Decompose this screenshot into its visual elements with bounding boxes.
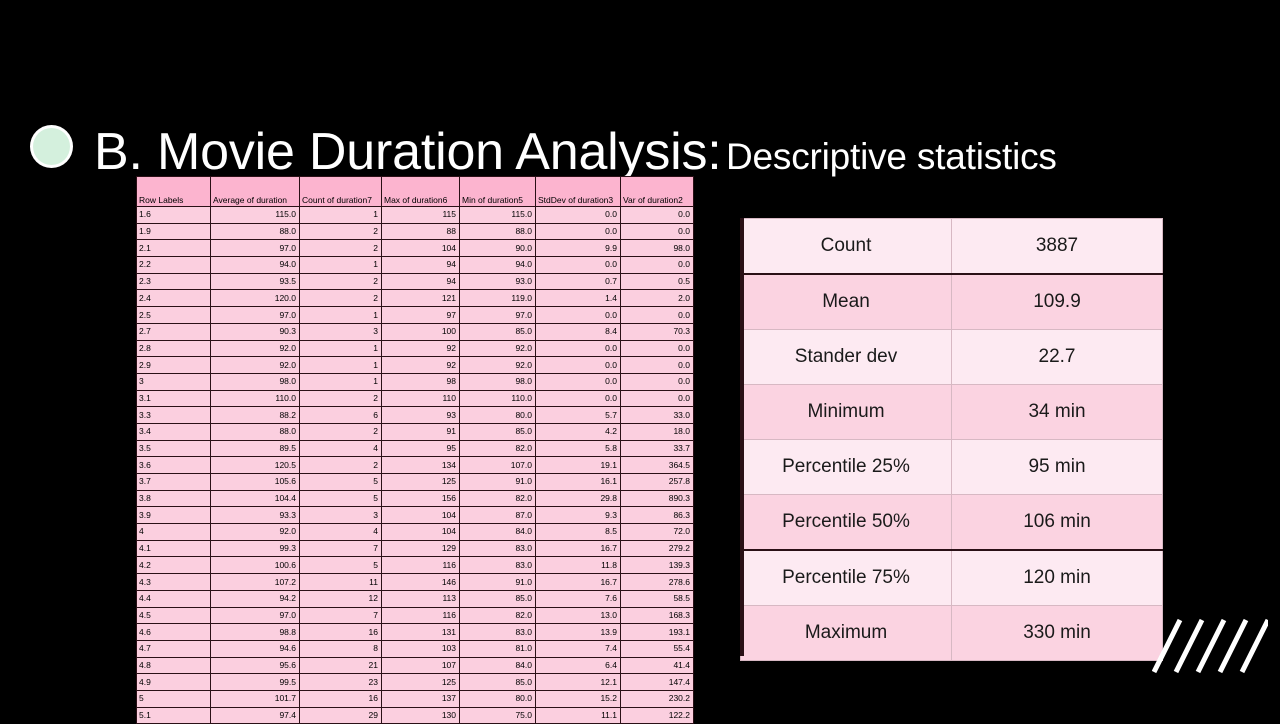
pivot-cell: 0.0 xyxy=(621,373,694,390)
pivot-row-label: 4.2 xyxy=(137,557,211,574)
pivot-cell: 85.0 xyxy=(460,590,536,607)
pivot-cell: 257.8 xyxy=(621,474,694,491)
pivot-cell: 0.0 xyxy=(621,207,694,224)
pivot-cell: 0.0 xyxy=(621,390,694,407)
table-row: 3.1110.02110110.00.00.0 xyxy=(137,390,694,407)
slide-title-row: B. Movie Duration Analysis: Descriptive … xyxy=(0,62,1280,142)
pivot-cell: 75.0 xyxy=(460,707,536,724)
pivot-header-row: Row LabelsAverage of durationCount of du… xyxy=(137,177,694,207)
pivot-cell: 125 xyxy=(382,474,460,491)
pivot-cell: 92.0 xyxy=(211,357,300,374)
pivot-cell: 94.2 xyxy=(211,590,300,607)
pivot-cell: 88 xyxy=(382,223,460,240)
pivot-cell: 0.0 xyxy=(536,223,621,240)
summary-statistics-table: Count3887Mean109.9Stander dev22.7Minimum… xyxy=(740,218,1163,661)
summary-stat-value: 109.9 xyxy=(952,274,1163,330)
pivot-cell: 115.0 xyxy=(460,207,536,224)
pivot-cell: 85.0 xyxy=(460,423,536,440)
pivot-cell: 5 xyxy=(300,474,382,491)
summary-row: Mean109.9 xyxy=(741,274,1163,330)
pivot-cell: 5.8 xyxy=(536,440,621,457)
pivot-cell: 104 xyxy=(382,507,460,524)
pivot-cell: 8.4 xyxy=(536,323,621,340)
table-row: 398.019898.00.00.0 xyxy=(137,373,694,390)
pivot-column-header[interactable]: StdDev of duration3 xyxy=(536,177,621,207)
pivot-cell: 2.0 xyxy=(621,290,694,307)
pivot-cell: 116 xyxy=(382,557,460,574)
pivot-row-label: 4.6 xyxy=(137,624,211,641)
pivot-cell: 12 xyxy=(300,590,382,607)
summary-stat-value: 106 min xyxy=(952,495,1163,551)
pivot-row-label: 5.1 xyxy=(137,707,211,724)
pivot-cell: 0.0 xyxy=(536,357,621,374)
pivot-column-header[interactable]: Var of duration2 xyxy=(621,177,694,207)
pivot-cell: 23 xyxy=(300,674,382,691)
pivot-cell: 193.1 xyxy=(621,624,694,641)
summary-row: Percentile 50%106 min xyxy=(741,495,1163,551)
pivot-cell: 119.0 xyxy=(460,290,536,307)
pivot-cell: 91 xyxy=(382,423,460,440)
pivot-cell: 131 xyxy=(382,624,460,641)
pivot-cell: 95.6 xyxy=(211,657,300,674)
pivot-cell: 364.5 xyxy=(621,457,694,474)
pivot-cell: 104 xyxy=(382,524,460,541)
pivot-cell: 2 xyxy=(300,390,382,407)
table-row: 2.393.529493.00.70.5 xyxy=(137,273,694,290)
pivot-row-label: 2.4 xyxy=(137,290,211,307)
pivot-cell: 12.1 xyxy=(536,674,621,691)
pivot-cell: 4.2 xyxy=(536,423,621,440)
pivot-row-label: 4.7 xyxy=(137,640,211,657)
pivot-row-label: 4.8 xyxy=(137,657,211,674)
pivot-row-label: 3.1 xyxy=(137,390,211,407)
pivot-cell: 94 xyxy=(382,273,460,290)
table-row: 4.2100.6511683.011.8139.3 xyxy=(137,557,694,574)
pivot-cell: 94.0 xyxy=(460,257,536,274)
summary-stat-value: 330 min xyxy=(952,606,1163,661)
pivot-cell: 116 xyxy=(382,607,460,624)
pivot-cell: 58.5 xyxy=(621,590,694,607)
pivot-row-label: 4.5 xyxy=(137,607,211,624)
pivot-row-label: 3.7 xyxy=(137,474,211,491)
pivot-row-label: 3.6 xyxy=(137,457,211,474)
pivot-cell: 97.4 xyxy=(211,707,300,724)
summary-stat-value: 120 min xyxy=(952,550,1163,606)
summary-stat-label: Percentile 50% xyxy=(741,495,952,551)
table-row: 2.294.019494.00.00.0 xyxy=(137,257,694,274)
summary-stat-value: 3887 xyxy=(952,219,1163,275)
summary-stat-label: Count xyxy=(741,219,952,275)
pivot-cell: 130 xyxy=(382,707,460,724)
pivot-cell: 88.0 xyxy=(211,223,300,240)
pivot-cell: 1 xyxy=(300,373,382,390)
table-row: 4.3107.21114691.016.7278.6 xyxy=(137,574,694,591)
pivot-cell: 115 xyxy=(382,207,460,224)
pivot-cell: 0.5 xyxy=(621,273,694,290)
pivot-row-label: 2.8 xyxy=(137,340,211,357)
pivot-cell: 88.0 xyxy=(211,423,300,440)
pivot-cell: 91.0 xyxy=(460,574,536,591)
pivot-cell: 16.1 xyxy=(536,474,621,491)
pivot-cell: 129 xyxy=(382,540,460,557)
pivot-cell: 33.7 xyxy=(621,440,694,457)
pivot-cell: 278.6 xyxy=(621,574,694,591)
pivot-cell: 2 xyxy=(300,240,382,257)
pivot-cell: 88.0 xyxy=(460,223,536,240)
pivot-cell: 2 xyxy=(300,273,382,290)
pivot-row-label: 4.3 xyxy=(137,574,211,591)
pivot-cell: 0.0 xyxy=(621,223,694,240)
pivot-cell: 72.0 xyxy=(621,524,694,541)
table-row: 4.895.62110784.06.441.4 xyxy=(137,657,694,674)
table-row: 3.7105.6512591.016.1257.8 xyxy=(137,474,694,491)
pivot-cell: 2 xyxy=(300,290,382,307)
table-row: 3.488.029185.04.218.0 xyxy=(137,423,694,440)
pivot-cell: 15.2 xyxy=(536,690,621,707)
pivot-cell: 88.2 xyxy=(211,407,300,424)
pivot-cell: 0.0 xyxy=(621,340,694,357)
pivot-cell: 8 xyxy=(300,640,382,657)
pivot-cell: 29 xyxy=(300,707,382,724)
summary-row: Count3887 xyxy=(741,219,1163,275)
bullet-circle-icon xyxy=(33,128,70,165)
pivot-cell: 0.0 xyxy=(536,307,621,324)
table-row: 2.197.0210490.09.998.0 xyxy=(137,240,694,257)
pivot-cell: 2 xyxy=(300,423,382,440)
pivot-cell: 93.0 xyxy=(460,273,536,290)
pivot-cell: 82.0 xyxy=(460,490,536,507)
pivot-cell: 9.9 xyxy=(536,240,621,257)
pivot-cell: 81.0 xyxy=(460,640,536,657)
page-title-main: B. Movie Duration Analysis: xyxy=(94,123,722,181)
pivot-cell: 147.4 xyxy=(621,674,694,691)
pivot-cell: 92.0 xyxy=(460,357,536,374)
table-row: 3.993.3310487.09.386.3 xyxy=(137,507,694,524)
pivot-row-label: 3.9 xyxy=(137,507,211,524)
table-row: 3.589.549582.05.833.7 xyxy=(137,440,694,457)
pivot-row-label: 3.8 xyxy=(137,490,211,507)
pivot-cell: 2 xyxy=(300,223,382,240)
pivot-table-container: Row LabelsAverage of durationCount of du… xyxy=(136,176,693,724)
pivot-cell: 7 xyxy=(300,607,382,624)
table-row: 2.892.019292.00.00.0 xyxy=(137,340,694,357)
pivot-cell: 92 xyxy=(382,357,460,374)
pivot-cell: 0.0 xyxy=(621,307,694,324)
pivot-cell: 120.0 xyxy=(211,290,300,307)
summary-row: Maximum330 min xyxy=(741,606,1163,661)
pivot-row-label: 3.3 xyxy=(137,407,211,424)
pivot-column-header[interactable]: Count of duration7 xyxy=(300,177,382,207)
table-row: 5.197.42913075.011.1122.2 xyxy=(137,707,694,724)
pivot-table-body: 1.6115.01115115.00.00.01.988.028888.00.0… xyxy=(137,207,694,724)
pivot-cell: 125 xyxy=(382,674,460,691)
pivot-cell: 94.6 xyxy=(211,640,300,657)
pivot-cell: 279.2 xyxy=(621,540,694,557)
pivot-cell: 105.6 xyxy=(211,474,300,491)
pivot-cell: 99.3 xyxy=(211,540,300,557)
table-row: 4.794.6810381.07.455.4 xyxy=(137,640,694,657)
table-row: 1.6115.01115115.00.00.0 xyxy=(137,207,694,224)
pivot-cell: 98.0 xyxy=(621,240,694,257)
pivot-cell: 94.0 xyxy=(211,257,300,274)
pivot-cell: 83.0 xyxy=(460,540,536,557)
table-row: 4.698.81613183.013.9193.1 xyxy=(137,624,694,641)
pivot-cell: 83.0 xyxy=(460,557,536,574)
pivot-cell: 16 xyxy=(300,624,382,641)
pivot-cell: 100.6 xyxy=(211,557,300,574)
pivot-cell: 91.0 xyxy=(460,474,536,491)
pivot-cell: 146 xyxy=(382,574,460,591)
pivot-row-label: 4.1 xyxy=(137,540,211,557)
table-row: 3.8104.4515682.029.8890.3 xyxy=(137,490,694,507)
pivot-cell: 93 xyxy=(382,407,460,424)
summary-stat-label: Minimum xyxy=(741,385,952,440)
summary-stat-label: Percentile 75% xyxy=(741,550,952,606)
pivot-cell: 90.0 xyxy=(460,240,536,257)
pivot-cell: 5 xyxy=(300,557,382,574)
pivot-cell: 99.5 xyxy=(211,674,300,691)
pivot-cell: 18.0 xyxy=(621,423,694,440)
pivot-cell: 70.3 xyxy=(621,323,694,340)
pivot-cell: 85.0 xyxy=(460,323,536,340)
summary-accent-bar xyxy=(740,218,744,656)
summary-stat-label: Maximum xyxy=(741,606,952,661)
pivot-cell: 97.0 xyxy=(460,307,536,324)
pivot-cell: 7.6 xyxy=(536,590,621,607)
pivot-cell: 29.8 xyxy=(536,490,621,507)
table-row: 1.988.028888.00.00.0 xyxy=(137,223,694,240)
pivot-table: Row LabelsAverage of durationCount of du… xyxy=(136,176,694,724)
pivot-row-label: 2.1 xyxy=(137,240,211,257)
pivot-cell: 86.3 xyxy=(621,507,694,524)
pivot-cell: 101.7 xyxy=(211,690,300,707)
pivot-cell: 3 xyxy=(300,323,382,340)
pivot-row-label: 4 xyxy=(137,524,211,541)
pivot-cell: 80.0 xyxy=(460,407,536,424)
summary-stat-value: 22.7 xyxy=(952,330,1163,385)
pivot-cell: 80.0 xyxy=(460,690,536,707)
pivot-cell: 7 xyxy=(300,540,382,557)
table-row: 5101.71613780.015.2230.2 xyxy=(137,690,694,707)
pivot-cell: 1 xyxy=(300,357,382,374)
pivot-cell: 95 xyxy=(382,440,460,457)
pivot-cell: 107.0 xyxy=(460,457,536,474)
pivot-cell: 104.4 xyxy=(211,490,300,507)
pivot-cell: 122.2 xyxy=(621,707,694,724)
pivot-row-label: 1.6 xyxy=(137,207,211,224)
summary-stat-label: Stander dev xyxy=(741,330,952,385)
pivot-cell: 3 xyxy=(300,507,382,524)
pivot-row-label: 2.2 xyxy=(137,257,211,274)
pivot-cell: 83.0 xyxy=(460,624,536,641)
summary-row: Stander dev22.7 xyxy=(741,330,1163,385)
pivot-cell: 55.4 xyxy=(621,640,694,657)
pivot-cell: 0.0 xyxy=(536,373,621,390)
summary-stat-value: 95 min xyxy=(952,440,1163,495)
pivot-cell: 98.8 xyxy=(211,624,300,641)
pivot-cell: 104 xyxy=(382,240,460,257)
pivot-cell: 230.2 xyxy=(621,690,694,707)
pivot-cell: 82.0 xyxy=(460,607,536,624)
pivot-cell: 98.0 xyxy=(460,373,536,390)
table-row: 492.0410484.08.572.0 xyxy=(137,524,694,541)
pivot-cell: 139.3 xyxy=(621,557,694,574)
pivot-cell: 1 xyxy=(300,257,382,274)
pivot-cell: 0.0 xyxy=(536,340,621,357)
pivot-cell: 92 xyxy=(382,340,460,357)
pivot-cell: 168.3 xyxy=(621,607,694,624)
pivot-cell: 110 xyxy=(382,390,460,407)
page-title-subtitle: Descriptive statistics xyxy=(726,136,1057,177)
page-title: B. Movie Duration Analysis: Descriptive … xyxy=(94,126,1057,178)
pivot-row-label: 3 xyxy=(137,373,211,390)
pivot-cell: 0.0 xyxy=(621,257,694,274)
pivot-cell: 6.4 xyxy=(536,657,621,674)
pivot-cell: 97 xyxy=(382,307,460,324)
table-row: 2.790.3310085.08.470.3 xyxy=(137,323,694,340)
pivot-cell: 11.8 xyxy=(536,557,621,574)
pivot-cell: 4 xyxy=(300,440,382,457)
pivot-column-header[interactable]: Row Labels xyxy=(137,177,211,207)
pivot-cell: 100 xyxy=(382,323,460,340)
pivot-cell: 84.0 xyxy=(460,657,536,674)
pivot-row-label: 1.9 xyxy=(137,223,211,240)
pivot-cell: 92.0 xyxy=(460,340,536,357)
table-row: 4.199.3712983.016.7279.2 xyxy=(137,540,694,557)
summary-table-container: Count3887Mean109.9Stander dev22.7Minimum… xyxy=(740,218,1144,661)
pivot-cell: 92.0 xyxy=(211,524,300,541)
pivot-cell: 107 xyxy=(382,657,460,674)
pivot-cell: 19.1 xyxy=(536,457,621,474)
pivot-cell: 92.0 xyxy=(211,340,300,357)
table-row: 3.6120.52134107.019.1364.5 xyxy=(137,457,694,474)
pivot-cell: 98.0 xyxy=(211,373,300,390)
table-row: 2.597.019797.00.00.0 xyxy=(137,307,694,324)
pivot-cell: 890.3 xyxy=(621,490,694,507)
pivot-cell: 5.7 xyxy=(536,407,621,424)
summary-row: Percentile 75%120 min xyxy=(741,550,1163,606)
pivot-cell: 7.4 xyxy=(536,640,621,657)
slashes-icon xyxy=(1152,618,1268,674)
pivot-cell: 137 xyxy=(382,690,460,707)
table-row: 3.388.269380.05.733.0 xyxy=(137,407,694,424)
pivot-cell: 8.5 xyxy=(536,524,621,541)
summary-stat-value: 34 min xyxy=(952,385,1163,440)
pivot-cell: 94 xyxy=(382,257,460,274)
table-row: 4.999.52312585.012.1147.4 xyxy=(137,674,694,691)
pivot-cell: 0.7 xyxy=(536,273,621,290)
pivot-cell: 1 xyxy=(300,307,382,324)
pivot-cell: 21 xyxy=(300,657,382,674)
pivot-column-header[interactable]: Max of duration6 xyxy=(382,177,460,207)
pivot-cell: 16.7 xyxy=(536,574,621,591)
pivot-cell: 121 xyxy=(382,290,460,307)
pivot-cell: 1.4 xyxy=(536,290,621,307)
pivot-cell: 156 xyxy=(382,490,460,507)
pivot-row-label: 3.4 xyxy=(137,423,211,440)
pivot-cell: 93.3 xyxy=(211,507,300,524)
pivot-cell: 97.0 xyxy=(211,240,300,257)
pivot-cell: 0.0 xyxy=(621,357,694,374)
pivot-cell: 9.3 xyxy=(536,507,621,524)
pivot-cell: 120.5 xyxy=(211,457,300,474)
pivot-row-label: 2.5 xyxy=(137,307,211,324)
pivot-cell: 33.0 xyxy=(621,407,694,424)
pivot-row-label: 4.9 xyxy=(137,674,211,691)
pivot-cell: 41.4 xyxy=(621,657,694,674)
pivot-cell: 11.1 xyxy=(536,707,621,724)
pivot-cell: 4 xyxy=(300,524,382,541)
pivot-cell: 87.0 xyxy=(460,507,536,524)
pivot-cell: 113 xyxy=(382,590,460,607)
pivot-cell: 90.3 xyxy=(211,323,300,340)
pivot-cell: 97.0 xyxy=(211,307,300,324)
pivot-cell: 6 xyxy=(300,407,382,424)
table-row: 2.4120.02121119.01.42.0 xyxy=(137,290,694,307)
summary-table-body: Count3887Mean109.9Stander dev22.7Minimum… xyxy=(741,219,1163,661)
table-row: 2.992.019292.00.00.0 xyxy=(137,357,694,374)
pivot-cell: 89.5 xyxy=(211,440,300,457)
pivot-cell: 93.5 xyxy=(211,273,300,290)
pivot-cell: 11 xyxy=(300,574,382,591)
pivot-cell: 110.0 xyxy=(460,390,536,407)
pivot-cell: 97.0 xyxy=(211,607,300,624)
pivot-row-label: 5 xyxy=(137,690,211,707)
pivot-cell: 13.0 xyxy=(536,607,621,624)
pivot-cell: 1 xyxy=(300,340,382,357)
pivot-row-label: 3.5 xyxy=(137,440,211,457)
pivot-column-header[interactable]: Min of duration5 xyxy=(460,177,536,207)
pivot-cell: 0.0 xyxy=(536,390,621,407)
summary-row: Minimum34 min xyxy=(741,385,1163,440)
pivot-cell: 85.0 xyxy=(460,674,536,691)
pivot-cell: 0.0 xyxy=(536,257,621,274)
pivot-cell: 13.9 xyxy=(536,624,621,641)
pivot-row-label: 2.7 xyxy=(137,323,211,340)
pivot-row-label: 2.9 xyxy=(137,357,211,374)
pivot-cell: 82.0 xyxy=(460,440,536,457)
pivot-cell: 16 xyxy=(300,690,382,707)
pivot-cell: 84.0 xyxy=(460,524,536,541)
pivot-cell: 98 xyxy=(382,373,460,390)
pivot-cell: 103 xyxy=(382,640,460,657)
summary-row: Percentile 25%95 min xyxy=(741,440,1163,495)
pivot-table-head: Row LabelsAverage of durationCount of du… xyxy=(137,177,694,207)
pivot-cell: 1 xyxy=(300,207,382,224)
decorative-slashes xyxy=(1152,618,1268,674)
table-row: 4.494.21211385.07.658.5 xyxy=(137,590,694,607)
pivot-cell: 115.0 xyxy=(211,207,300,224)
summary-stat-label: Percentile 25% xyxy=(741,440,952,495)
pivot-cell: 110.0 xyxy=(211,390,300,407)
pivot-column-header[interactable]: Average of duration xyxy=(211,177,300,207)
pivot-cell: 2 xyxy=(300,457,382,474)
pivot-cell: 16.7 xyxy=(536,540,621,557)
table-row: 4.597.0711682.013.0168.3 xyxy=(137,607,694,624)
pivot-cell: 134 xyxy=(382,457,460,474)
pivot-cell: 0.0 xyxy=(536,207,621,224)
summary-stat-label: Mean xyxy=(741,274,952,330)
pivot-cell: 5 xyxy=(300,490,382,507)
pivot-row-label: 2.3 xyxy=(137,273,211,290)
pivot-row-label: 4.4 xyxy=(137,590,211,607)
pivot-cell: 107.2 xyxy=(211,574,300,591)
